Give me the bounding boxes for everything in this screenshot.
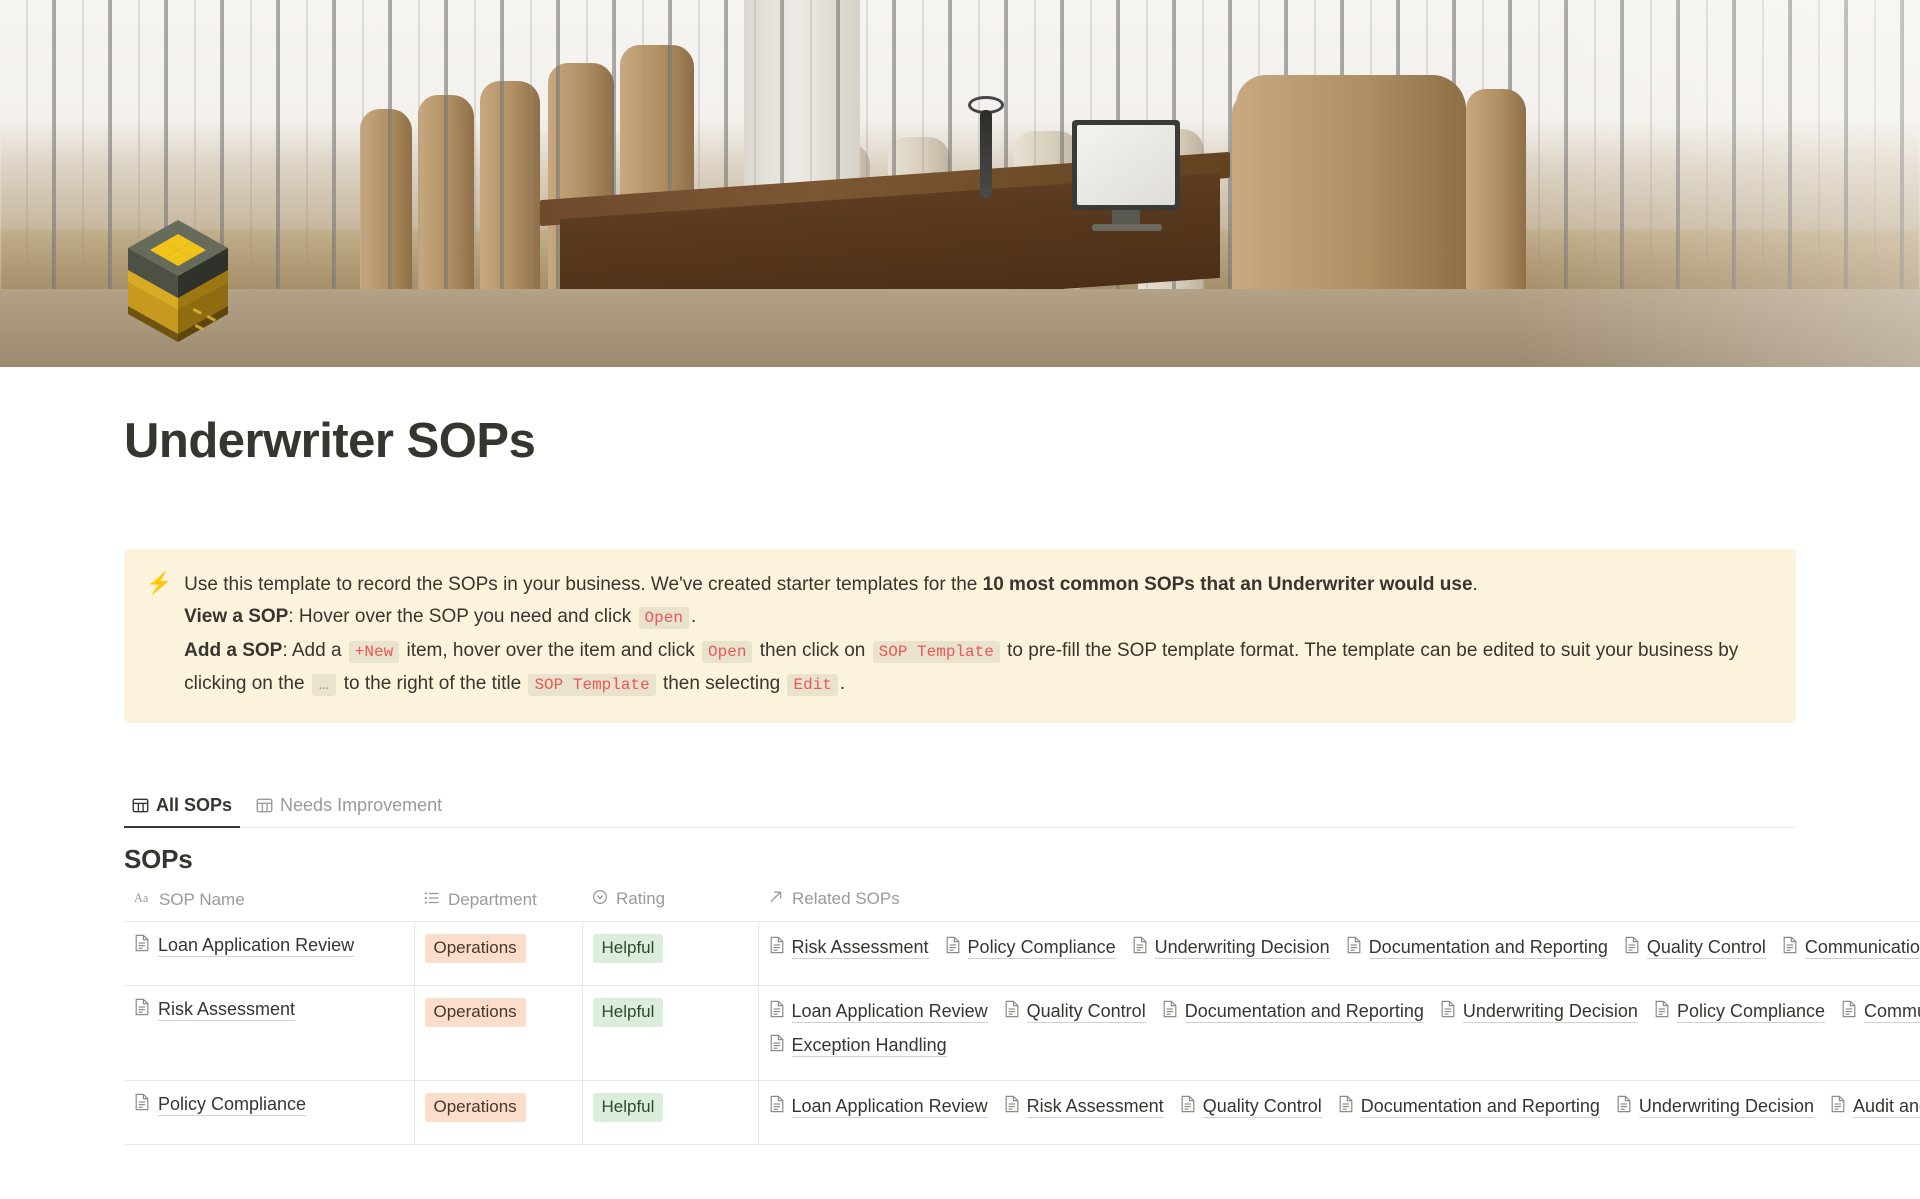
callout-add-c: then click on [754, 640, 870, 661]
callout-view-b: . [691, 606, 696, 627]
page-file-icon [769, 1093, 785, 1121]
related-sop-label: Quality Control [1647, 936, 1766, 959]
related-sop-label: Quality Control [1027, 1000, 1146, 1023]
page-file-icon [1654, 998, 1670, 1026]
column-header-department[interactable]: Department [414, 887, 582, 922]
table-row[interactable]: Risk AssessmentOperationsHelpfulLoan App… [124, 985, 1920, 1080]
related-sop-label: Underwriting Decision [1155, 936, 1330, 959]
column-header-related-sops-label: Related SOPs [792, 889, 900, 909]
related-sop-link[interactable]: Underwriting Decision [1616, 1093, 1814, 1121]
callout-add-b: item, hover over the item and click [401, 640, 700, 661]
table-row[interactable]: Policy ComplianceOperationsHelpfulLoan A… [124, 1080, 1920, 1144]
related-sop-link[interactable]: Underwriting Decision [1132, 934, 1330, 962]
related-sop-link[interactable]: Risk Assessment [769, 934, 929, 962]
callout-view-a: : Hover over the SOP you need and click [288, 606, 636, 627]
related-sop-link[interactable]: Exception Handling [769, 1032, 947, 1060]
page-file-icon [1830, 1093, 1846, 1121]
column-header-related-sops[interactable]: Related SOPs [758, 887, 1920, 922]
related-sop-link[interactable]: Loan Application Review [769, 998, 988, 1026]
sop-table: Aa SOP Name [124, 887, 1920, 1145]
department-tag: Operations [425, 998, 526, 1027]
related-sop-link[interactable]: Policy Compliance [1654, 998, 1825, 1026]
cover-light-wash [1520, 0, 1920, 367]
related-sop-link[interactable]: Documentation and Reporting [1338, 1093, 1600, 1121]
page-file-icon [1132, 934, 1148, 962]
callout-intro-b: . [1473, 574, 1478, 595]
related-sop-label: Policy Compliance [1677, 1000, 1825, 1023]
callout-view-label: View a SOP [184, 606, 288, 627]
callout-text: Use this template to record the SOPs in … [184, 569, 1774, 701]
related-sop-label: Audit and Compliance [1853, 1095, 1920, 1118]
table-header-row: Aa SOP Name [124, 887, 1920, 922]
table-icon [256, 797, 273, 814]
tab-all-sops-label: All SOPs [156, 795, 232, 816]
related-sop-label: Communication and Collaboration [1864, 1000, 1920, 1023]
cell-department[interactable]: Operations [414, 921, 582, 985]
open-chip-2[interactable]: Open [702, 641, 752, 663]
related-sop-list: Risk AssessmentPolicy ComplianceUnderwri… [769, 934, 1920, 962]
rating-tag: Helpful [593, 934, 664, 963]
column-header-sop-name-label: SOP Name [159, 890, 245, 910]
related-sop-list: Loan Application ReviewQuality ControlDo… [769, 998, 1920, 1060]
related-sop-link[interactable]: Risk Assessment [1004, 1093, 1164, 1121]
rating-tag: Helpful [593, 1093, 664, 1122]
edit-chip[interactable]: Edit [787, 674, 837, 696]
related-sop-label: Loan Application Review [792, 1000, 988, 1023]
cell-department[interactable]: Operations [414, 1080, 582, 1144]
related-sop-label: Documentation and Reporting [1361, 1095, 1600, 1118]
department-tag: Operations [425, 934, 526, 963]
callout-add-g: . [840, 673, 845, 694]
related-sop-link[interactable]: Documentation and Reporting [1162, 998, 1424, 1026]
page-file-icon [1624, 934, 1640, 962]
related-sop-label: Quality Control [1203, 1095, 1322, 1118]
page-file-icon [134, 934, 150, 957]
callout-add-a: : Add a [282, 640, 346, 661]
sop-name-label: Risk Assessment [158, 998, 295, 1021]
page-file-icon [769, 1032, 785, 1060]
related-sop-link[interactable]: Communication and Collaboration [1782, 934, 1920, 962]
callout-intro-a: Use this template to record the SOPs in … [184, 574, 982, 595]
tab-all-sops[interactable]: All SOPs [124, 791, 240, 827]
lightning-bolt-icon: ⚡ [146, 569, 172, 599]
cell-rating[interactable]: Helpful [582, 1080, 758, 1144]
department-tag: Operations [425, 1093, 526, 1122]
related-sop-label: Communication and Collaboration [1805, 936, 1920, 959]
ellipsis-menu-chip[interactable]: … [312, 674, 337, 696]
page-file-icon [1004, 1093, 1020, 1121]
related-sop-label: Underwriting Decision [1639, 1095, 1814, 1118]
monitor-base [1092, 224, 1162, 231]
page-cover-image[interactable] [0, 0, 1920, 367]
rating-tag: Helpful [593, 998, 664, 1027]
related-sop-link[interactable]: Underwriting Decision [1440, 998, 1638, 1026]
callout-add-f: then selecting [658, 673, 786, 694]
related-sop-label: Loan Application Review [792, 1095, 988, 1118]
related-sop-label: Documentation and Reporting [1185, 1000, 1424, 1023]
table-body: Loan Application ReviewOperationsHelpful… [124, 921, 1920, 1144]
related-sop-link[interactable]: Communication and Collaboration [1841, 998, 1920, 1026]
select-icon [592, 889, 608, 910]
tab-needs-improvement[interactable]: Needs Improvement [248, 791, 450, 827]
page-file-icon [769, 998, 785, 1026]
related-sop-label: Risk Assessment [1027, 1095, 1164, 1118]
sop-name-link[interactable]: Risk Assessment [134, 998, 295, 1021]
sop-name-link[interactable]: Policy Compliance [134, 1093, 306, 1116]
column-header-rating-label: Rating [616, 889, 665, 909]
related-sop-label: Underwriting Decision [1463, 1000, 1638, 1023]
cell-sop-name[interactable]: Loan Application Review [124, 921, 414, 985]
table-row[interactable]: Loan Application ReviewOperationsHelpful… [124, 921, 1920, 985]
page-file-icon [1346, 934, 1362, 962]
cell-related-sops[interactable]: Loan Application ReviewRisk AssessmentQu… [758, 1080, 1920, 1144]
cell-rating[interactable]: Helpful [582, 985, 758, 1080]
tab-needs-improvement-label: Needs Improvement [280, 795, 442, 816]
callout-add-label: Add a SOP [184, 640, 282, 661]
sop-table-container: Aa SOP Name [124, 887, 1920, 1145]
table-icon [132, 797, 149, 814]
multi-select-icon [424, 890, 440, 910]
related-sop-link[interactable]: Loan Application Review [769, 1093, 988, 1121]
callout-add-e: to the right of the title [338, 673, 526, 694]
cell-sop-name[interactable]: Policy Compliance [124, 1080, 414, 1144]
page-file-icon [1338, 1093, 1354, 1121]
page-title: Underwriter SOPs [124, 367, 1796, 469]
related-sop-label: Exception Handling [792, 1034, 947, 1057]
page-file-icon [134, 998, 150, 1021]
cell-related-sops[interactable]: Loan Application ReviewQuality ControlDo… [758, 985, 1920, 1080]
sop-template-chip-2[interactable]: SOP Template [528, 674, 655, 696]
related-sop-list: Loan Application ReviewRisk AssessmentQu… [769, 1093, 1920, 1121]
column-header-department-label: Department [448, 890, 537, 910]
database-view-tabs: All SOPs Needs Improvement [124, 791, 1796, 828]
page-file-icon [945, 934, 961, 962]
related-sop-label: Documentation and Reporting [1369, 936, 1608, 959]
page-file-icon [1616, 1093, 1632, 1121]
page-file-icon [134, 1093, 150, 1116]
relation-icon [768, 889, 784, 910]
isometric-cube-icon[interactable] [124, 212, 232, 342]
page-file-icon [1841, 998, 1857, 1026]
callout-line-add: Add a SOP: Add a +New item, hover over t… [184, 635, 1774, 701]
sop-name-label: Policy Compliance [158, 1093, 306, 1116]
monitor-screen [1077, 125, 1175, 205]
database-title[interactable]: SOPs [124, 844, 1796, 875]
instructions-callout: ⚡ Use this template to record the SOPs i… [124, 549, 1796, 723]
open-chip[interactable]: Open [639, 607, 689, 629]
page-file-icon [1004, 998, 1020, 1026]
cell-department[interactable]: Operations [414, 985, 582, 1080]
cell-sop-name[interactable]: Risk Assessment [124, 985, 414, 1080]
related-sop-link[interactable]: Documentation and Reporting [1346, 934, 1608, 962]
related-sop-link[interactable]: Quality Control [1180, 1093, 1322, 1121]
page-file-icon [1782, 934, 1798, 962]
callout-line-view: View a SOP: Hover over the SOP you need … [184, 601, 1774, 634]
related-sop-link[interactable]: Quality Control [1624, 934, 1766, 962]
related-sop-label: Risk Assessment [792, 936, 929, 959]
page-file-icon [769, 934, 785, 962]
cell-related-sops[interactable]: Risk AssessmentPolicy ComplianceUnderwri… [758, 921, 1920, 985]
desktop-monitor [1072, 120, 1180, 210]
svg-text:Aa: Aa [134, 891, 149, 905]
callout-intro-bold: 10 most common SOPs that an Underwriter … [983, 574, 1473, 595]
related-sop-link[interactable]: Policy Compliance [945, 934, 1116, 962]
text-type-icon: Aa [134, 890, 151, 910]
related-sop-link[interactable]: Quality Control [1004, 998, 1146, 1026]
sop-name-link[interactable]: Loan Application Review [134, 934, 354, 957]
page-file-icon [1180, 1093, 1196, 1121]
sop-name-label: Loan Application Review [158, 934, 354, 957]
related-sop-link[interactable]: Audit and Compliance [1830, 1093, 1920, 1121]
page-content: Underwriter SOPs ⚡ Use this template to … [0, 367, 1920, 1145]
new-chip[interactable]: +New [349, 641, 399, 663]
callout-line-intro: Use this template to record the SOPs in … [184, 569, 1774, 600]
column-header-sop-name[interactable]: Aa SOP Name [124, 887, 414, 922]
sop-template-chip[interactable]: SOP Template [873, 641, 1000, 663]
cell-rating[interactable]: Helpful [582, 921, 758, 985]
related-sop-label: Policy Compliance [968, 936, 1116, 959]
microphone-stand [980, 110, 992, 198]
column-header-rating[interactable]: Rating [582, 887, 758, 922]
page-file-icon [1162, 998, 1178, 1026]
page-file-icon [1440, 998, 1456, 1026]
